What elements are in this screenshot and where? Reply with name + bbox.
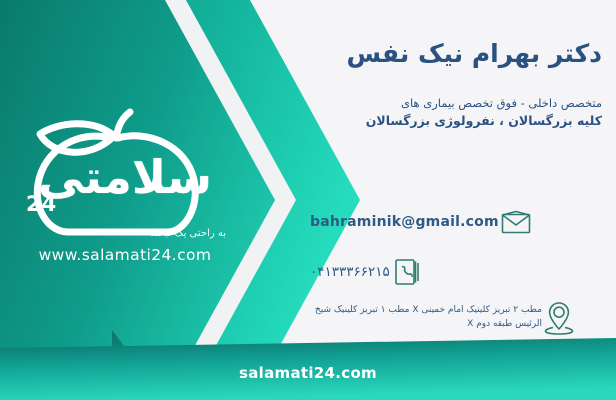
contact-row-email[interactable]: bahraminik@gmail.com [306,205,606,239]
footer-website: salamati24.com [0,364,616,382]
business-card: سلامتی 24 به راحتی یک لبخند www.salamati… [0,0,616,400]
phone-value: ۰۴۱۳۳۳۶۶۲۱۵ [306,264,390,280]
contact-row-address[interactable]: مطب ۲ تبریز کلینیک امام خمینی X مطب ۱ تب… [306,301,606,335]
specialty-line-2: کلیه بزرگسالان ، نفرولوژی بزرگسالان [302,112,602,131]
phone-book-icon [390,255,424,289]
logo-website: www.salamati24.com [10,246,240,264]
specialty-line-1: متخصص داخلی - فوق تخصص بیماری های [302,95,602,112]
logo-tagline: به راحتی یک لبخند [10,228,226,239]
address-value: مطب ۲ تبریز کلینیک امام خمینی X مطب ۱ تب… [306,304,542,332]
doctor-name: دکتر بهرام نیک نفس [302,38,602,69]
envelope-icon [499,205,533,239]
contact-list: bahraminik@gmail.com ۰۴۱۳۳۳۶۶۲۱۵ [306,205,606,351]
footer-bar: salamati24.com [0,338,616,400]
contact-row-phone[interactable]: ۰۴۱۳۳۳۶۶۲۱۵ [306,255,606,289]
email-value: bahraminik@gmail.com [306,214,499,230]
salamati24-logo: سلامتی 24 به راحتی یک لبخند www.salamati… [10,108,240,278]
doctor-specialty: متخصص داخلی - فوق تخصص بیماری های کلیه ب… [302,95,602,131]
location-pin-icon [542,301,576,335]
logo-number-24: 24 [26,192,57,216]
